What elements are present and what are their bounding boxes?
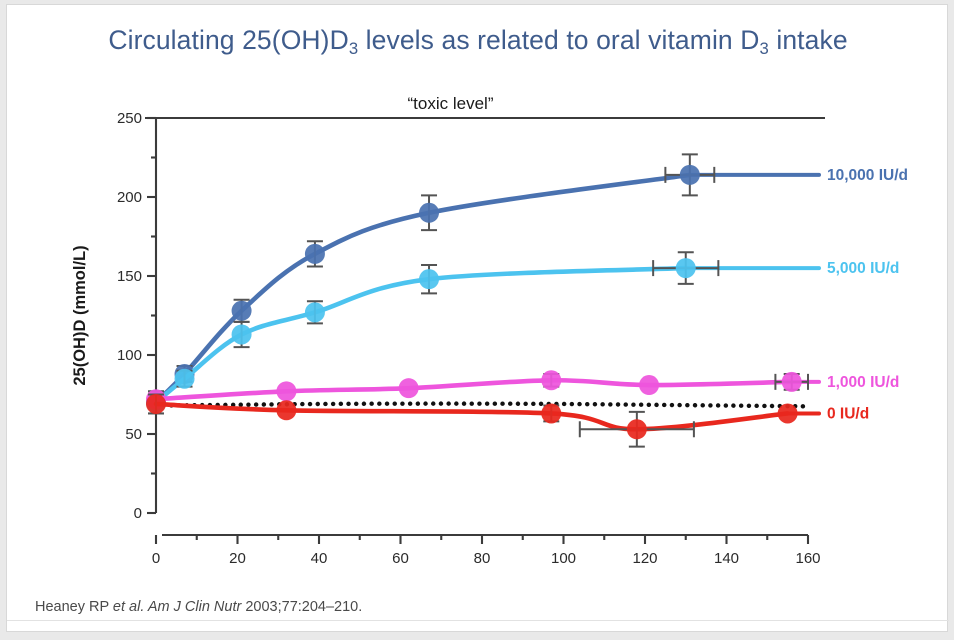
y-tick-label: 0 [134,505,142,522]
data-point-marker [146,394,166,414]
citation: Heaney RP et al. Am J Clin Nutr 2003;77:… [35,599,362,615]
slide-canvas: Circulating 25(OH)D3 levels as related t… [6,4,948,632]
x-tick-label: 40 [311,550,328,567]
y-axis-title: 25(OH)D (mmol/L) [71,245,89,385]
title-sub-2: 3 [759,39,768,58]
data-point-marker [419,203,439,223]
y-tick-label: 50 [125,426,142,443]
series-curve-2 [156,380,792,399]
footer-divider [7,620,949,621]
y-tick-label: 200 [117,189,142,206]
dotted-reference-curve [156,404,808,407]
data-point-marker [232,324,252,344]
chart-container: “toxic level”05010015020025025(OH)D (mmo… [7,80,949,575]
data-point-marker [276,400,296,420]
data-point-marker [639,375,659,395]
x-tick-label: 100 [551,550,576,567]
data-point-marker [778,403,798,423]
page-title: Circulating 25(OH)D3 levels as related t… [7,25,949,56]
citation-journal: et al. Am J Clin Nutr [113,599,241,615]
data-point-marker [175,369,195,389]
title-text-mid: levels as related to oral vitamin D [358,25,759,55]
data-point-marker [232,301,252,321]
data-point-marker [305,302,325,322]
x-tick-label: 140 [714,550,739,567]
title-sub-1: 3 [349,39,358,58]
data-point-marker [276,381,296,401]
x-tick-label: 60 [392,550,409,567]
series-label-2: 1,000 IU/d [827,374,899,391]
citation-authors: Heaney RP [35,599,113,615]
title-text-post: intake [769,25,848,55]
citation-rest: 2003;77:204–210. [241,599,362,615]
data-point-marker [680,165,700,185]
data-point-marker [627,419,647,439]
data-point-marker [541,370,561,390]
toxic-level-label: “toxic level” [408,94,494,113]
series-label-0: 10,000 IU/d [827,167,908,184]
x-tick-label: 20 [229,550,246,567]
data-point-marker [419,269,439,289]
data-point-marker [541,403,561,423]
data-point-marker [399,378,419,398]
series-curve-3 [156,404,788,429]
x-tick-label: 160 [795,550,820,567]
series-label-3: 0 IU/d [827,405,869,422]
line-chart: “toxic level”05010015020025025(OH)D (mmo… [7,80,949,575]
x-tick-label: 120 [632,550,657,567]
title-text-pre: Circulating 25(OH)D [108,25,348,55]
y-tick-label: 150 [117,268,142,285]
x-tick-label: 80 [474,550,491,567]
data-point-marker [782,372,802,392]
data-point-marker [676,258,696,278]
x-tick-label: 0 [152,550,160,567]
y-tick-label: 100 [117,347,142,364]
series-label-1: 5,000 IU/d [827,260,899,277]
y-tick-label: 250 [117,110,142,127]
data-point-marker [305,244,325,264]
